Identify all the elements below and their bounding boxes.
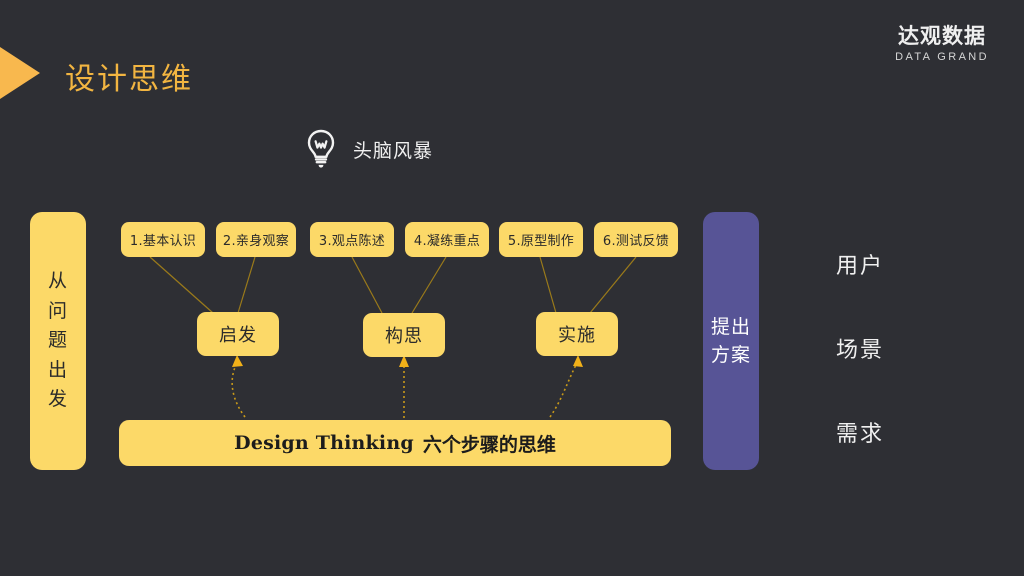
keyword-list: 用户 场景 需求 [836,248,884,500]
phase-label-3: 实施 [558,321,596,347]
logo-name-en: DATA GRAND [895,52,989,63]
keyword-item-1: 用户 [836,248,884,280]
brainstorm-group: 头脑风暴 [305,128,433,170]
phase-label-1: 启发 [219,321,257,347]
step-box-2[interactable]: 2.亲身观察 [216,222,296,257]
keyword-item-2: 场景 [836,332,884,364]
brand-logo: 达观数据 DATA GRAND [895,26,989,63]
step-label-4: 4.凝练重点 [414,230,480,249]
logo-name-cn: 达观数据 [895,26,989,47]
summary-bar-cn: 六个步骤的思维 [423,430,556,457]
page-title: 设计思维 [65,54,193,98]
right-stage-box[interactable]: 提出方案 [703,212,759,470]
step-label-5: 5.原型制作 [508,230,574,249]
step-label-1: 1.基本认识 [130,230,196,249]
keyword-item-3: 需求 [836,416,884,448]
left-stage-box[interactable]: 从问题出发 [30,212,86,470]
chevron-right-icon [0,47,40,99]
summary-bar[interactable]: Design Thinking 六个步骤的思维 [119,420,671,466]
summary-bar-en: Design Thinking [234,432,414,454]
slide: 设计思维 达观数据 DATA GRAND 头脑风暴 [0,0,1024,576]
right-stage-label: 提出方案 [707,313,755,370]
step-box-4[interactable]: 4.凝练重点 [405,222,489,257]
phase-box-3[interactable]: 实施 [536,312,618,356]
step-label-6: 6.测试反馈 [603,230,669,249]
step-box-1[interactable]: 1.基本认识 [121,222,205,257]
left-stage-label: 从问题出发 [46,267,70,414]
brainstorm-label: 头脑风暴 [353,136,433,163]
step-box-6[interactable]: 6.测试反馈 [594,222,678,257]
step-box-3[interactable]: 3.观点陈述 [310,222,394,257]
step-box-5[interactable]: 5.原型制作 [499,222,583,257]
phase-label-2: 构思 [385,322,423,348]
step-label-3: 3.观点陈述 [319,230,385,249]
phase-box-2[interactable]: 构思 [363,313,445,357]
lightbulb-icon [305,128,337,170]
phase-box-1[interactable]: 启发 [197,312,279,356]
step-label-2: 2.亲身观察 [223,230,289,249]
